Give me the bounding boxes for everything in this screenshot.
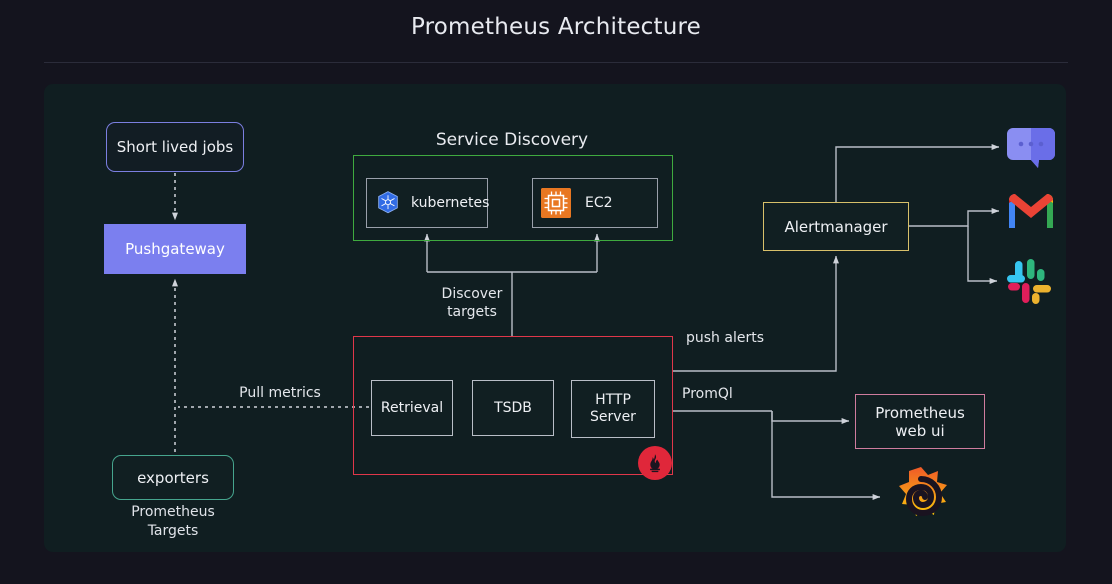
node-ec2[interactable]: EC2 <box>532 178 658 228</box>
ec2-chip-icon <box>541 188 571 218</box>
edge-label-discover-targets-line2: targets <box>424 304 520 322</box>
caption-prometheus-targets-line1: Prometheus <box>100 503 246 522</box>
edge-label-promql: PromQl <box>682 386 772 404</box>
node-tsdb[interactable]: TSDB <box>472 380 554 436</box>
node-prometheus-web-ui-line1: Prometheus <box>875 404 965 422</box>
diagram-root: Prometheus Architecture <box>0 0 1112 584</box>
node-exporters[interactable]: exporters <box>112 455 234 500</box>
grafana-icon[interactable] <box>888 466 954 532</box>
node-exporters-label: exporters <box>137 469 209 487</box>
kubernetes-icon <box>375 190 401 216</box>
node-http-server-line2: Server <box>590 409 636 425</box>
caption-prometheus-targets: Prometheus Targets <box>100 503 246 541</box>
edge-label-push-alerts: push alerts <box>686 330 790 348</box>
node-short-lived-jobs-label: Short lived jobs <box>117 138 233 156</box>
header-divider <box>44 62 1068 63</box>
node-http-server-label: HTTP Server <box>590 392 636 426</box>
gmail-icon[interactable] <box>1005 190 1057 232</box>
node-kubernetes[interactable]: kubernetes <box>366 178 488 228</box>
node-retrieval-label: Retrieval <box>381 400 443 417</box>
page-title: Prometheus Architecture <box>0 14 1112 40</box>
node-retrieval[interactable]: Retrieval <box>371 380 453 436</box>
edge-label-discover-targets: Discover targets <box>424 286 520 321</box>
caption-prometheus-targets-line2: Targets <box>100 522 246 541</box>
node-ec2-label: EC2 <box>585 195 613 212</box>
edge-label-discover-targets-line1: Discover <box>424 286 520 304</box>
prometheus-flame-icon <box>638 446 672 480</box>
node-alertmanager-label: Alertmanager <box>784 218 887 236</box>
chat-bubble-icon[interactable] <box>1005 124 1057 172</box>
node-http-server[interactable]: HTTP Server <box>571 380 655 438</box>
node-http-server-line1: HTTP <box>595 392 631 408</box>
edge-label-pull-metrics: Pull metrics <box>224 385 336 403</box>
node-pushgateway[interactable]: Pushgateway <box>104 224 246 274</box>
node-alertmanager[interactable]: Alertmanager <box>763 202 909 251</box>
slack-icon[interactable] <box>1003 257 1057 307</box>
node-kubernetes-label: kubernetes <box>411 195 489 212</box>
node-prometheus-web-ui[interactable]: Prometheus web ui <box>855 394 985 449</box>
service-discovery-title: Service Discovery <box>352 130 672 150</box>
node-prometheus-web-ui-label: Prometheus web ui <box>875 404 965 440</box>
node-pushgateway-label: Pushgateway <box>125 240 225 258</box>
node-prometheus-web-ui-line2: web ui <box>895 422 944 440</box>
node-tsdb-label: TSDB <box>494 400 532 417</box>
node-short-lived-jobs[interactable]: Short lived jobs <box>106 122 244 172</box>
